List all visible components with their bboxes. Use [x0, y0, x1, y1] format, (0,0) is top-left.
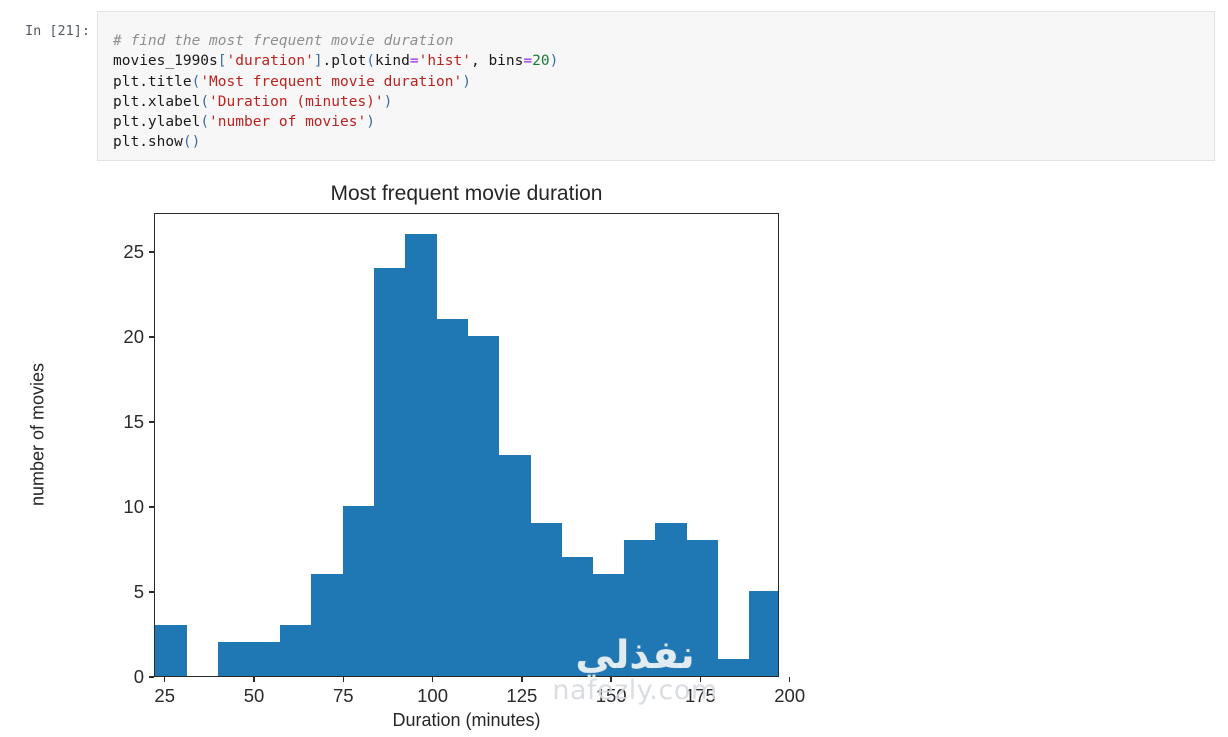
code-line: movies_1990s['duration'].plot(kind='hist…: [113, 51, 558, 71]
x-tick-label: 175: [660, 685, 740, 707]
y-tick-label: 20: [123, 326, 144, 348]
y-tick-label: 15: [123, 411, 144, 433]
histogram-bar: [499, 455, 531, 676]
code-token: (: [192, 74, 201, 90]
y-tick-label: 5: [134, 581, 144, 603]
histogram-bar: [218, 642, 250, 676]
x-tick-label: 75: [303, 685, 383, 707]
y-tick-mark: [149, 506, 154, 507]
y-axis-label: number of movies: [28, 305, 49, 565]
code-editor[interactable]: # find the most frequent movie durationm…: [97, 11, 1215, 161]
y-tick-label: 25: [123, 241, 144, 263]
notebook-code-cell: In [21]: # find the most frequent movie …: [0, 0, 1228, 172]
code-token: ): [550, 53, 559, 69]
code-token: =: [523, 53, 532, 69]
y-tick-mark: [149, 591, 154, 592]
plot-axes: [154, 213, 779, 677]
x-tick-mark: [432, 677, 433, 682]
histogram-bar: [718, 659, 750, 676]
histogram-bar: [686, 540, 718, 676]
y-tick-mark: [149, 336, 154, 337]
code-token: plt.xlabel: [113, 94, 200, 110]
code-token: 'duration': [227, 53, 314, 69]
code-token: bins: [488, 53, 523, 69]
x-tick-label: 50: [214, 685, 294, 707]
x-tick-mark: [343, 677, 344, 682]
code-token: plt.ylabel: [113, 114, 200, 130]
y-tick-mark: [149, 421, 154, 422]
code-token: plt.show: [113, 134, 183, 150]
histogram-bar: [468, 336, 500, 676]
histogram-bar: [280, 625, 312, 676]
code-token: ]: [314, 53, 323, 69]
code-token: 'hist': [419, 53, 471, 69]
code-token: (: [366, 53, 375, 69]
code-token: (: [200, 114, 209, 130]
code-source[interactable]: # find the most frequent movie durationm…: [113, 31, 558, 153]
execution-count-prompt: In [21]:: [14, 23, 90, 39]
code-token: =: [410, 53, 419, 69]
histogram-bars: [155, 214, 778, 676]
code-token: plt.title: [113, 74, 192, 90]
code-token: ): [384, 94, 393, 110]
histogram-bar: [749, 591, 779, 676]
x-tick-mark: [700, 677, 701, 682]
code-line: plt.xlabel('Duration (minutes)'): [113, 92, 558, 112]
x-tick-label: 125: [482, 685, 562, 707]
code-token: ): [192, 134, 201, 150]
histogram-bar: [561, 557, 593, 676]
histogram-bar: [249, 642, 281, 676]
x-tick-label: 25: [125, 685, 205, 707]
y-tick-label: 10: [123, 496, 144, 518]
code-token: 'number of movies': [209, 114, 366, 130]
x-tick-label: 100: [393, 685, 473, 707]
code-token: (: [183, 134, 192, 150]
code-token: ): [366, 114, 375, 130]
x-tick-label: 150: [571, 685, 651, 707]
code-token: ,: [471, 53, 488, 69]
code-line: plt.title('Most frequent movie duration'…: [113, 72, 558, 92]
code-token: (: [200, 94, 209, 110]
histogram-bar: [343, 506, 375, 676]
code-line: plt.show(): [113, 132, 558, 152]
code-token: # find the most frequent movie duration: [113, 33, 453, 49]
x-tick-mark: [164, 677, 165, 682]
histogram-bar: [374, 268, 406, 676]
x-axis-label: Duration (minutes): [154, 710, 779, 731]
code-line: # find the most frequent movie duration: [113, 31, 558, 51]
x-tick-mark: [521, 677, 522, 682]
histogram-bar: [624, 540, 656, 676]
y-tick-mark: [149, 251, 154, 252]
code-token: 'Most frequent movie duration': [200, 74, 462, 90]
histogram-bar: [655, 523, 687, 676]
code-token: kind: [375, 53, 410, 69]
histogram-bar: [155, 625, 187, 676]
y-axis-ticks: 0510152025: [0, 213, 154, 677]
code-line: plt.ylabel('number of movies'): [113, 112, 558, 132]
x-tick-mark: [789, 677, 790, 682]
x-tick-mark: [610, 677, 611, 682]
histogram-bar: [436, 319, 468, 676]
histogram-bar: [311, 574, 343, 676]
code-token: ): [462, 74, 471, 90]
code-token: [: [218, 53, 227, 69]
histogram-bar: [530, 523, 562, 676]
chart-title: Most frequent movie duration: [154, 182, 779, 206]
histogram-bar: [405, 234, 437, 676]
histogram-bar: [593, 574, 625, 676]
x-tick-label: 200: [750, 685, 830, 707]
code-token: movies_1990s: [113, 53, 218, 69]
code-token: 'Duration (minutes)': [209, 94, 384, 110]
matplotlib-figure: Most frequent movie duration 0510152025 …: [0, 172, 1228, 733]
code-token: .plot: [323, 53, 367, 69]
code-token: 20: [532, 53, 549, 69]
x-tick-mark: [253, 677, 254, 682]
